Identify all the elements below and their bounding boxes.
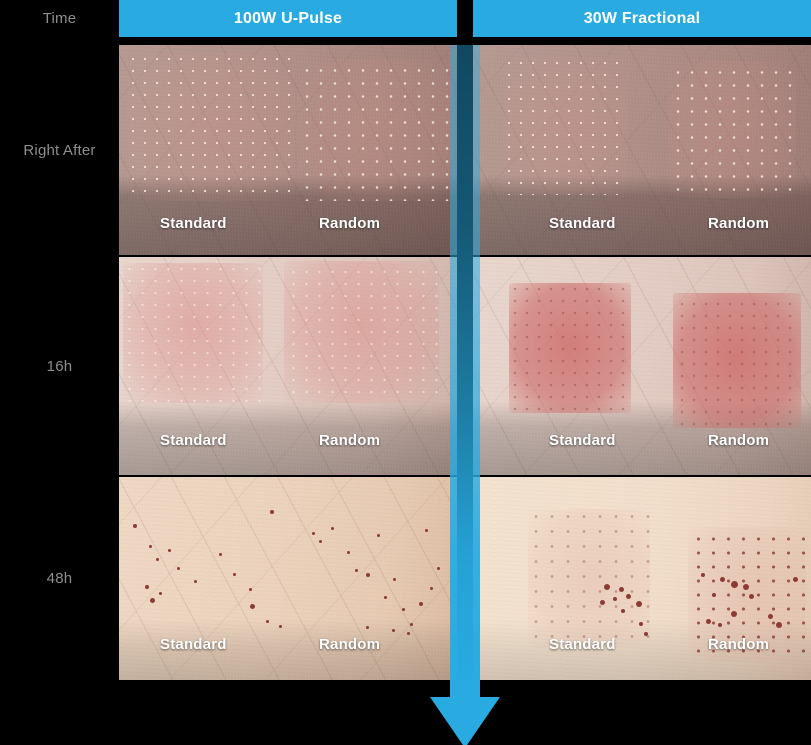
micro-dot-grid — [127, 53, 295, 201]
caption-random: Random — [319, 215, 380, 232]
row-label-16h: 16h — [0, 257, 119, 475]
treatment-patch-random — [673, 293, 801, 428]
photo-cell-16h-30w: Standard Random — [473, 257, 811, 475]
treatment-patch-standard — [127, 53, 295, 201]
caption-random: Random — [708, 215, 769, 232]
treatment-patch-standard — [503, 57, 628, 195]
comparison-figure: Time 100W U-Pulse 30W Fractional Right A… — [0, 0, 811, 745]
treatment-patch-standard — [123, 263, 263, 403]
micro-dot-grid — [528, 509, 650, 647]
caption-random: Random — [319, 432, 380, 449]
micro-dot-grid — [673, 293, 801, 428]
micro-dot-grid — [668, 61, 796, 198]
treatment-patch-random — [284, 261, 439, 403]
micro-dot-grid — [123, 263, 263, 403]
treatment-patch-standard — [509, 283, 631, 413]
arrow-head — [430, 697, 500, 745]
photo-cell-48h-100w: Standard Random — [119, 477, 457, 680]
photo-cell-right-after-30w: Standard Random — [473, 45, 811, 255]
caption-standard: Standard — [549, 432, 616, 449]
treatment-patch-random — [297, 59, 455, 201]
photo-cell-16h-100w: Standard Random — [119, 257, 457, 475]
column-header-30w-fractional: 30W Fractional — [473, 0, 811, 37]
caption-standard: Standard — [160, 636, 227, 653]
treatment-patch-random — [668, 61, 796, 198]
time-axis-label: Time — [0, 0, 119, 37]
row-label-right-after: Right After — [0, 45, 119, 255]
photo-cell-48h-30w: Standard Random — [473, 477, 811, 680]
row-label-48h: 48h — [0, 477, 119, 680]
micro-dot-grid — [297, 59, 455, 201]
micro-dot-grid — [509, 283, 631, 413]
caption-standard: Standard — [549, 636, 616, 653]
micro-dot-grid — [503, 57, 628, 195]
caption-standard: Standard — [549, 215, 616, 232]
caption-random: Random — [708, 432, 769, 449]
treatment-patch-standard — [528, 509, 650, 647]
caption-standard: Standard — [160, 432, 227, 449]
photo-cell-right-after-100w: Standard Random — [119, 45, 457, 255]
caption-random: Random — [708, 636, 769, 653]
header-row: Time 100W U-Pulse 30W Fractional — [0, 0, 811, 37]
caption-standard: Standard — [160, 215, 227, 232]
caption-random: Random — [319, 636, 380, 653]
column-header-100w-u-pulse: 100W U-Pulse — [119, 0, 457, 37]
micro-dot-grid — [284, 261, 439, 403]
